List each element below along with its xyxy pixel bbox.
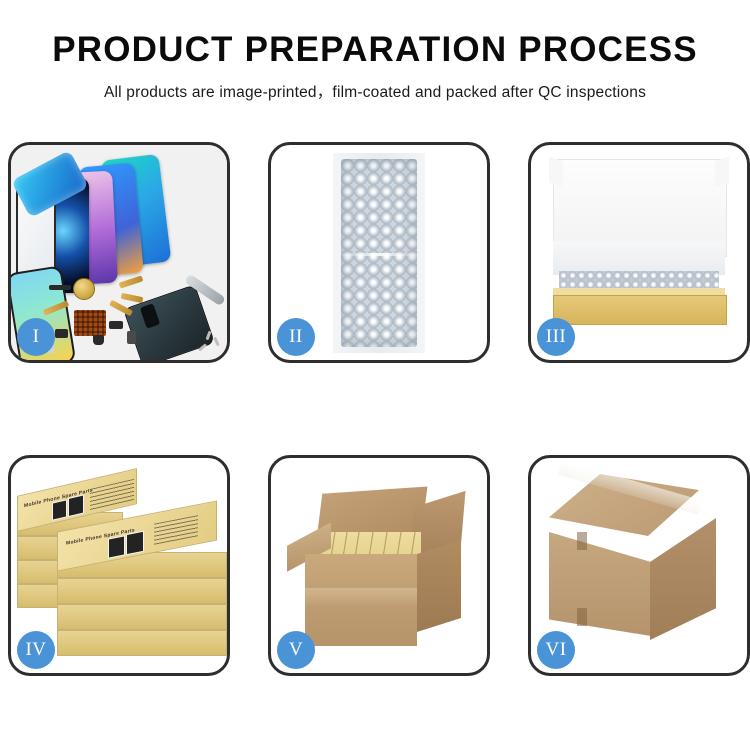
gold-coil-icon — [73, 278, 95, 300]
box-thumbnail-1a — [52, 499, 67, 520]
step-panel-3: III — [528, 142, 750, 363]
box-thumbnail-2b — [126, 531, 144, 555]
carton-seam-bottom — [577, 608, 587, 626]
page-subtitle: All products are image-printed，film-coat… — [0, 80, 750, 102]
step-badge-4: IV — [17, 631, 55, 669]
step-badge-2: II — [277, 318, 315, 356]
bubble-wrap-sleeve-icon — [333, 153, 425, 353]
battery-cell-icon — [127, 331, 136, 344]
vibrator-motor-icon — [55, 329, 68, 338]
step-badge-3: III — [537, 318, 575, 356]
carton-side-panel-icon — [417, 540, 461, 632]
kraft-box-front-icon — [553, 295, 727, 325]
copper-grid-component-icon — [74, 310, 106, 336]
step-panel-4: Mobile Phone Spare Parts Mobile Phone Sp… — [8, 455, 230, 676]
step-badge-5: V — [277, 631, 315, 669]
page-title: PRODUCT PREPARATION PROCESS — [0, 32, 750, 69]
sealed-carton-front-icon — [549, 518, 651, 636]
step-panel-6: VI — [528, 455, 750, 676]
foam-insert-icon — [553, 241, 725, 275]
box-thumbnail-2a — [108, 535, 125, 558]
lid-flap-right — [715, 157, 729, 188]
retail-box-front-3 — [57, 604, 227, 630]
step-panel-5: V — [268, 455, 490, 676]
wrap-seam — [341, 253, 417, 256]
carton-flap-front-icon — [305, 588, 417, 606]
step-badge-1: I — [17, 318, 55, 356]
speaker-box-icon — [93, 335, 104, 345]
retail-box-stack-icon: Mobile Phone Spare Parts Mobile Phone Sp… — [17, 476, 225, 662]
step-panel-2: II — [268, 142, 490, 363]
step-panel-1: I — [8, 142, 230, 363]
earpiece-speaker-icon — [49, 285, 71, 290]
retail-box-front-4 — [57, 630, 227, 656]
retail-box-front-2 — [57, 578, 227, 604]
step-badge-6: VI — [537, 631, 575, 669]
sealed-carton-side-icon — [650, 518, 716, 640]
carton-seam-top — [577, 532, 587, 550]
box-thumbnail-1b — [68, 494, 84, 517]
header: PRODUCT PREPARATION PROCESS All products… — [0, 0, 750, 102]
product-preparation-infographic: PRODUCT PREPARATION PROCESS All products… — [0, 0, 750, 750]
small-chip-icon — [109, 321, 123, 329]
steps-grid: I II III — [8, 142, 750, 676]
lid-flap-left — [549, 157, 563, 188]
